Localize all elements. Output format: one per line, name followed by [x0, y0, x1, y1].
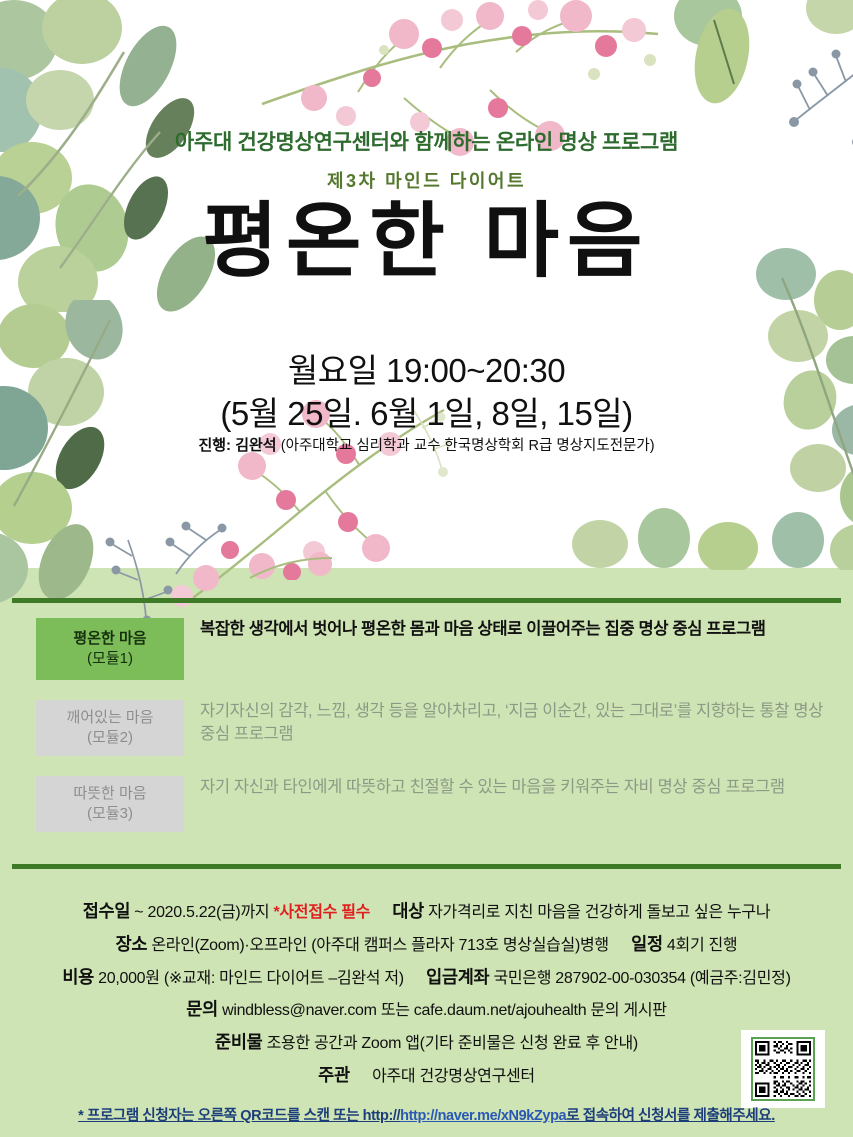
module-description-2: 자기자신의 감각, 느낌, 생각 등을 알아차리고, ‘지금 이순간, 있는 그…: [184, 700, 826, 747]
module-label-1: 평온한 마음 (모듈1): [36, 618, 184, 680]
page-title: 평온한 마음: [0, 196, 853, 288]
module-name-3: 따뜻한 마음: [73, 784, 146, 804]
detail-line-materials: 준비물 조용한 공간과 Zoom 앱(기타 준비물은 신청 완료 후 안내): [0, 1029, 853, 1057]
divider-top: [12, 598, 841, 603]
cost-label: 비용: [62, 967, 94, 987]
account-label: 입금계좌: [426, 967, 489, 987]
cost-value: 20,000원 (※교재: 마인드 다이어트 –김완석 저): [98, 970, 404, 987]
reception-required-note: *사전접수 필수: [273, 904, 370, 921]
account-value: 국민은행 287902-00-030354 (예금주:김민정): [493, 970, 790, 987]
target-value: 자가격리로 지친 마음을 건강하게 돌보고 싶은 누구나: [428, 904, 770, 921]
reception-label: 접수일: [83, 901, 130, 921]
footer-prefix: * 프로그램 신청자는 오른쪽 QR코드를 스캔 또는 http://: [78, 1108, 400, 1124]
module-description-1: 복잡한 생각에서 벗어나 평온한 몸과 마음 상태로 이끌어주는 집중 명상 중…: [184, 618, 826, 641]
module-list: 평온한 마음 (모듈1) 복잡한 생각에서 벗어나 평온한 몸과 마음 상태로 …: [36, 618, 826, 852]
qr-code-card: [741, 1030, 825, 1108]
module-row-2: 깨어있는 마음 (모듈2) 자기자신의 감각, 느낌, 생각 등을 알아차리고,…: [36, 700, 826, 756]
place-value: 온라인(Zoom)·오프라인 (아주대 캠퍼스 플라자 713호 명상실습실)병…: [151, 937, 608, 954]
detail-line-contact: 문의 windbless@naver.com 또는 cafe.daum.net/…: [0, 996, 853, 1024]
session-dates: (5월 25일. 6월 1일, 8일, 15일): [0, 387, 853, 435]
module-name-2: 깨어있는 마음: [67, 708, 154, 728]
module-number-3: (모듈3): [87, 804, 133, 824]
contact-value: windbless@naver.com 또는 cafe.daum.net/ajo…: [222, 1002, 667, 1019]
instructor-line: 진행: 김완석 (아주대학교 심리학과 교수 한국명상학회 R급 명상지도전문가…: [0, 434, 853, 455]
materials-label: 준비물: [215, 1032, 262, 1052]
module-label-2: 깨어있는 마음 (모듈2): [36, 700, 184, 756]
divider-bottom: [12, 864, 841, 869]
reception-value: ~ 2020.5.22(금)까지: [134, 904, 269, 921]
module-number-2: (모듈2): [87, 728, 133, 748]
module-row-3: 따뜻한 마음 (모듈3) 자기 자신과 타인에게 따뜻하고 친절할 수 있는 마…: [36, 776, 826, 832]
detail-line-place: 장소 온라인(Zoom)·오프라인 (아주대 캠퍼스 플라자 713호 명상실습…: [0, 931, 853, 959]
detail-line-organizer: 주관 아주대 건강명상연구센터: [0, 1062, 853, 1090]
schedule-label: 일정: [631, 934, 663, 954]
footer-suffix: 로 접속하여 신청서를 제출해주세요.: [566, 1108, 775, 1124]
footer-note: * 프로그램 신청자는 오른쪽 QR코드를 스캔 또는 http://http:…: [0, 1104, 853, 1125]
place-label: 장소: [116, 934, 148, 954]
application-link[interactable]: http://naver.me/xN9kZypa: [400, 1108, 566, 1124]
target-label: 대상: [392, 901, 424, 921]
schedule-value: 4회기 진행: [667, 937, 737, 954]
organization-line: 아주대 건강명상연구센터와 함께하는 온라인 명상 프로그램: [0, 126, 853, 156]
qr-code-icon[interactable]: [751, 1037, 815, 1101]
detail-line-cost: 비용 20,000원 (※교재: 마인드 다이어트 –김완석 저) 입금계좌 국…: [0, 964, 853, 992]
organizer-label: 주관: [318, 1065, 350, 1085]
module-description-3: 자기 자신과 타인에게 따뜻하고 친절할 수 있는 마음을 키워주는 자비 명상…: [184, 776, 826, 799]
module-number-1: (모듈1): [87, 649, 133, 669]
series-line: 제3차 마인드 다이어트: [0, 167, 853, 193]
instructor-name: 진행: 김완석: [198, 437, 276, 454]
details-block: 접수일 ~ 2020.5.22(금)까지 *사전접수 필수 대상 자가격리로 지…: [0, 898, 853, 1095]
module-name-1: 평온한 마음: [73, 629, 146, 649]
contact-label: 문의: [186, 999, 218, 1019]
organizer-value: 아주대 건강명상연구센터: [372, 1068, 535, 1085]
instructor-credentials: (아주대학교 심리학과 교수 한국명상학회 R급 명상지도전문가): [281, 438, 655, 454]
session-time: 월요일 19:00~20:30: [0, 344, 853, 392]
module-label-3: 따뜻한 마음 (모듈3): [36, 776, 184, 832]
module-row-1: 평온한 마음 (모듈1) 복잡한 생각에서 벗어나 평온한 몸과 마음 상태로 …: [36, 618, 826, 680]
detail-line-reception: 접수일 ~ 2020.5.22(금)까지 *사전접수 필수 대상 자가격리로 지…: [0, 898, 853, 926]
poster: 아주대 건강명상연구센터와 함께하는 온라인 명상 프로그램 제3차 마인드 다…: [0, 0, 853, 1137]
materials-value: 조용한 공간과 Zoom 앱(기타 준비물은 신청 완료 후 안내): [267, 1035, 638, 1052]
